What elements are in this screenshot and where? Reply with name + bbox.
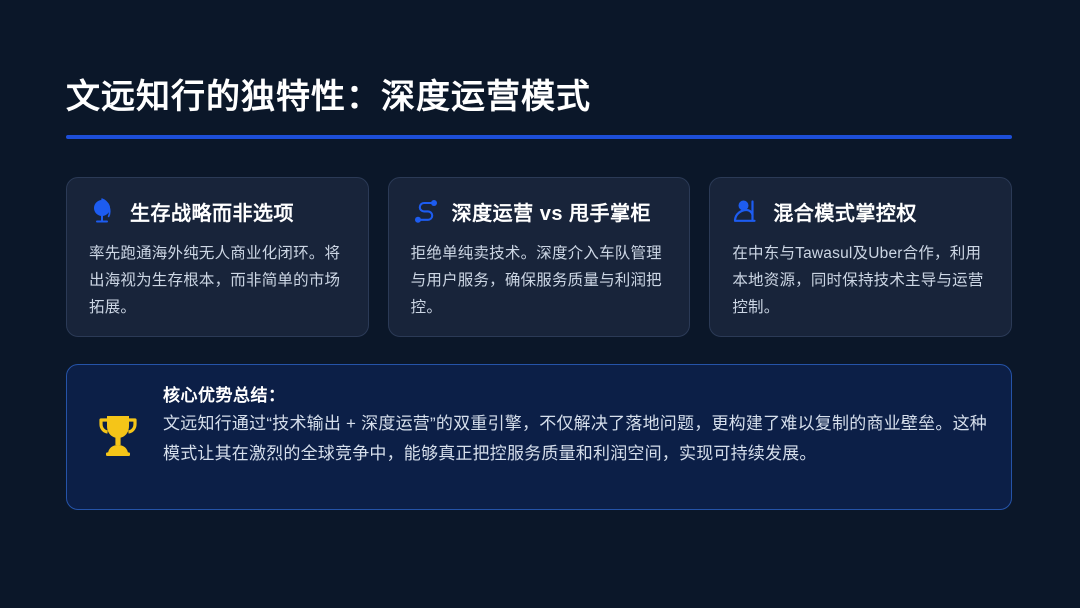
title-block: 文远知行的独特性：深度运营模式 [66,76,1012,139]
summary-body-text: 文远知行通过“技术输出 + 深度运营”的双重引擎，不仅解决了落地问题，更构建了难… [163,409,987,470]
summary-label: 核心优势总结： [163,383,987,409]
summary-text-block: 核心优势总结： 文远知行通过“技术输出 + 深度运营”的双重引擎，不仅解决了落地… [163,381,987,469]
summary-panel: 核心优势总结： 文远知行通过“技术输出 + 深度运营”的双重引擎，不仅解决了落地… [66,364,1012,510]
feature-card-survival-strategy[interactable]: 生存战略而非选项 率先跑通海外纯无人商业化闭环。将出海视为生存根本，而非简单的市… [66,177,369,337]
card-title: 生存战略而非选项 [130,197,294,226]
card-title: 混合模式掌控权 [773,197,917,226]
feature-cards-row: 生存战略而非选项 率先跑通海外纯无人商业化闭环。将出海视为生存根本，而非简单的市… [66,177,1012,337]
title-underline-rule [66,135,1012,139]
page-title: 文远知行的独特性：深度运营模式 [66,76,1012,119]
feature-card-deep-operation[interactable]: 深度运营 vs 甩手掌柜 拒绝单纯卖技术。深度介入车队管理与用户服务，确保服务质… [388,177,691,337]
card-header: 深度运营 vs 甩手掌柜 [411,196,668,226]
card-header: 生存战略而非选项 [89,196,346,226]
person-lean-icon [732,196,762,226]
route-icon [411,196,441,226]
card-body-text: 拒绝单纯卖技术。深度介入车队管理与用户服务，确保服务质量与利润把控。 [411,240,668,321]
card-body-text: 在中东与Tawasul及Uber合作，利用本地资源，同时保持技术主导与运营控制。 [732,240,989,321]
card-header: 混合模式掌控权 [732,196,989,226]
feature-card-hybrid-control[interactable]: 混合模式掌控权 在中东与Tawasul及Uber合作，利用本地资源，同时保持技术… [709,177,1012,337]
trophy-icon [89,381,147,489]
card-title: 深度运营 vs 甩手掌柜 [452,197,651,226]
globe-icon [89,196,119,226]
slide-root: 文远知行的独特性：深度运营模式 生存战略而非选项 率先跑通海外纯无人商业化闭环。… [0,0,1080,608]
card-body-text: 率先跑通海外纯无人商业化闭环。将出海视为生存根本，而非简单的市场拓展。 [89,240,346,321]
